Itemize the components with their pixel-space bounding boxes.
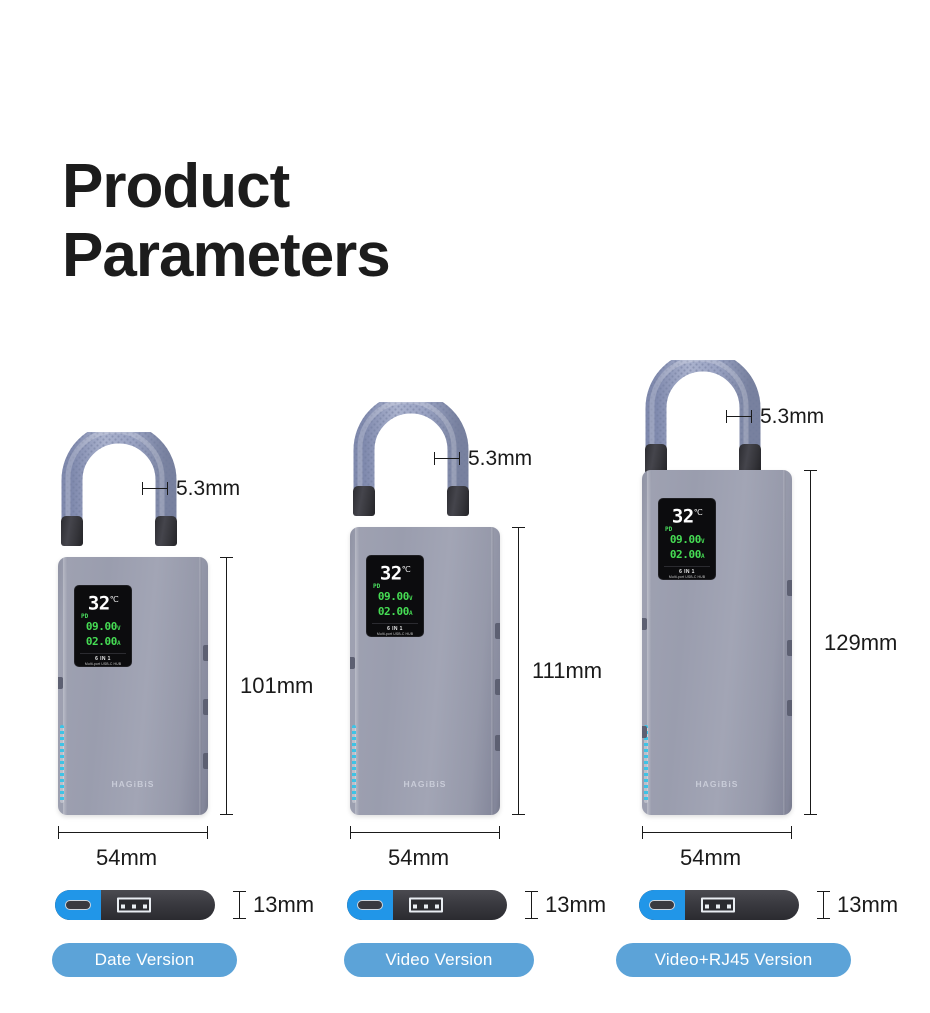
cable-width-label: 5.3mm: [176, 477, 240, 501]
version-button-date[interactable]: Date Version: [52, 943, 237, 977]
usbc-port-icon: [357, 900, 383, 910]
width-label: 54mm: [96, 845, 157, 871]
lcd-current: 02.00A: [662, 548, 712, 563]
cyan-vent-accent: [352, 725, 356, 803]
thickness-side-view: 13mm: [639, 890, 899, 930]
lcd-current-value: 02.00: [86, 635, 117, 648]
width-dimension-line: [58, 832, 208, 833]
cable-connector-right: [447, 486, 469, 516]
thickness-side-view: 13mm: [55, 890, 305, 930]
lcd-divider: [372, 623, 418, 624]
height-dimension-line: [518, 527, 519, 815]
product-column-video-rj45-version: 5.3mm 32℃ PD 09.00V: [592, 360, 892, 815]
lcd-sub-caption: Multi-port USB-C HUB: [79, 662, 127, 667]
lcd-mode-label: PD: [662, 526, 712, 533]
side-port-notch: [642, 618, 647, 630]
lcd-temperature-value: 32: [672, 505, 694, 527]
lcd-current-value: 02.00: [378, 605, 409, 618]
lcd-temperature-value: 32: [88, 592, 110, 614]
cable-connector-left: [353, 486, 375, 516]
side-port-notch: [495, 735, 500, 751]
lcd-voltage: 09.00V: [78, 620, 128, 635]
brand-logo: HAGiBiS: [58, 779, 208, 789]
side-port-notch: [787, 700, 792, 716]
device-side-profile: [639, 890, 799, 920]
braided-cable-icon: [644, 360, 762, 452]
thickness-label: 13mm: [253, 892, 314, 918]
height-dimension-line: [226, 557, 227, 815]
cable-width-caliper: [142, 482, 168, 495]
lcd-voltage-unit: V: [117, 625, 120, 632]
width-dimension-line: [642, 832, 792, 833]
cable-connector-right: [155, 516, 177, 546]
lcd-current-value: 02.00: [670, 548, 701, 561]
product-comparison: 5.3mm 32℃ PD 09.00V: [0, 360, 930, 1000]
device-body-video-rj45-version: 32℃ PD 09.00V 02.00A 6 IN 1 Multi-port U…: [642, 470, 792, 815]
body-bevel-right: [199, 557, 202, 815]
lcd-voltage-value: 09.00: [86, 620, 117, 633]
thickness-caliper: [817, 891, 830, 919]
version-button-video-rj45[interactable]: Video+RJ45 Version: [616, 943, 851, 977]
lcd-temperature-unit: ℃: [110, 595, 118, 604]
lcd-divider: [664, 566, 710, 567]
usba-port-icon: [117, 898, 151, 913]
lcd-temperature-value: 32: [380, 562, 402, 584]
body-bevel-right: [783, 470, 786, 815]
product-column-date-version: 5.3mm 32℃ PD 09.00V: [8, 360, 308, 815]
lcd-mode-label: PD: [78, 613, 128, 620]
lcd-mode-label: PD: [370, 583, 420, 590]
product-stage: 5.3mm 32℃ PD 09.00V: [8, 360, 308, 815]
lcd-voltage: 09.00V: [370, 590, 420, 605]
lcd-voltage-value: 09.00: [378, 590, 409, 603]
cable-width-caliper: [434, 452, 460, 465]
device-side-profile: [55, 890, 215, 920]
device-body-video-version: 32℃ PD 09.00V 02.00A 6 IN 1 Multi-port U…: [350, 527, 500, 815]
cable-connector-left: [61, 516, 83, 546]
braided-cable-icon: [352, 402, 470, 494]
lcd-voltage: 09.00V: [662, 533, 712, 548]
lcd-temperature-unit: ℃: [402, 565, 410, 574]
lcd-sub-caption: Multi-port USB-C HUB: [663, 575, 711, 580]
cable-width-label: 5.3mm: [468, 447, 532, 471]
lcd-current: 02.00A: [370, 605, 420, 620]
body-bevel-right: [491, 527, 494, 815]
side-port-notch: [495, 679, 500, 695]
thickness-caliper: [525, 891, 538, 919]
lcd-voltage-unit: V: [701, 538, 704, 545]
side-port-notch: [787, 580, 792, 596]
braided-cable-icon: [60, 432, 178, 524]
lcd-display: 32℃ PD 09.00V 02.00A 6 IN 1 Multi-port U…: [366, 555, 424, 637]
lcd-temperature: 32℃: [370, 560, 420, 583]
usbc-port-zone: [347, 890, 393, 920]
version-button-label: Video+RJ45 Version: [655, 950, 813, 970]
side-port-notch: [203, 645, 208, 661]
lcd-display: 32℃ PD 09.00V 02.00A 6 IN 1 Multi-port U…: [658, 498, 716, 580]
side-port-notch: [203, 753, 208, 769]
device-side-profile: [347, 890, 507, 920]
side-port-notch: [787, 640, 792, 656]
thickness-side-view: 13mm: [347, 890, 597, 930]
version-button-video[interactable]: Video Version: [344, 943, 534, 977]
product-stage: 5.3mm 32℃ PD 09.00V: [592, 360, 892, 815]
side-port-notch: [203, 699, 208, 715]
width-dimension-line: [350, 832, 500, 833]
usba-port-icon: [701, 898, 735, 913]
page-title: Product Parameters: [62, 152, 582, 291]
lcd-voltage-value: 09.00: [670, 533, 701, 546]
cable-width-label: 5.3mm: [760, 405, 824, 429]
thickness-label: 13mm: [545, 892, 606, 918]
lcd-temperature: 32℃: [662, 503, 712, 526]
version-button-label: Video Version: [385, 950, 492, 970]
usbc-port-icon: [649, 900, 675, 910]
lcd-current-unit: A: [701, 553, 704, 560]
usbc-port-zone: [639, 890, 685, 920]
lcd-display: 32℃ PD 09.00V 02.00A 6 IN 1 Multi-port U…: [74, 585, 132, 667]
brand-logo: HAGiBiS: [642, 779, 792, 789]
side-port-notch: [642, 726, 647, 738]
thickness-label: 13mm: [837, 892, 898, 918]
version-button-label: Date Version: [95, 950, 195, 970]
side-port-notch: [495, 623, 500, 639]
lcd-voltage-unit: V: [409, 595, 412, 602]
lcd-current-unit: A: [117, 640, 120, 647]
cable-width-caliper: [726, 410, 752, 423]
cyan-vent-accent: [60, 725, 64, 803]
side-port-notch: [58, 677, 63, 689]
lcd-divider: [80, 653, 126, 654]
height-dimension-line: [810, 470, 811, 815]
page-title-line-2: Parameters: [62, 221, 582, 290]
device-body-date-version: 32℃ PD 09.00V 02.00A 6 IN 1 Multi-port U…: [58, 557, 208, 815]
lcd-sub-caption: Multi-port USB-C HUB: [371, 632, 419, 637]
product-column-video-version: 5.3mm 32℃ PD 09.00V: [300, 360, 600, 815]
usbc-port-icon: [65, 900, 91, 910]
lcd-temperature-unit: ℃: [694, 508, 702, 517]
height-label: 129mm: [824, 630, 897, 656]
width-label: 54mm: [388, 845, 449, 871]
lcd-current: 02.00A: [78, 635, 128, 650]
lcd-current-unit: A: [409, 610, 412, 617]
brand-logo: HAGiBiS: [350, 779, 500, 789]
side-port-notch: [350, 657, 355, 669]
lcd-temperature: 32℃: [78, 590, 128, 613]
product-stage: 5.3mm 32℃ PD 09.00V: [300, 360, 600, 815]
thickness-caliper: [233, 891, 246, 919]
page-title-line-1: Product: [62, 152, 582, 221]
usba-port-icon: [409, 898, 443, 913]
usbc-port-zone: [55, 890, 101, 920]
width-label: 54mm: [680, 845, 741, 871]
